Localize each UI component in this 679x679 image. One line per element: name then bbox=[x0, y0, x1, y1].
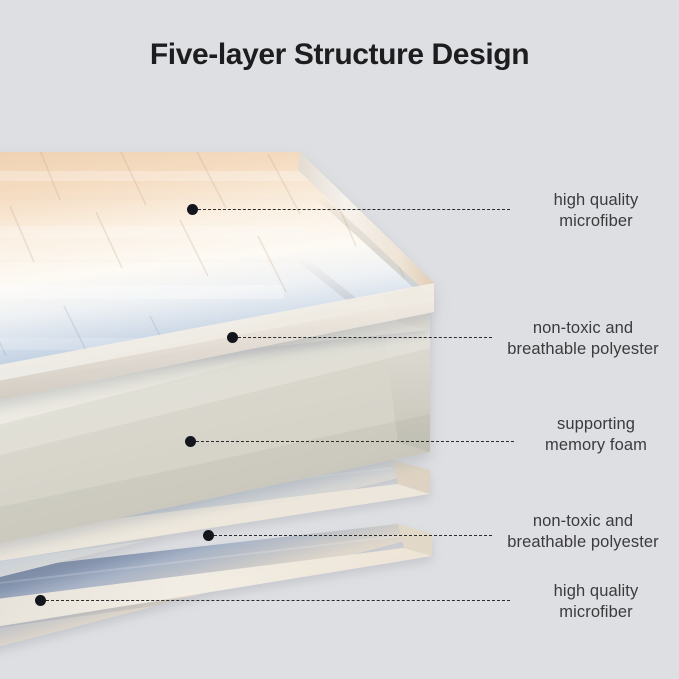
callout-label-layer-5: high quality microfiber bbox=[512, 581, 679, 623]
slab-bottom-microfiber bbox=[0, 524, 432, 662]
callout-dot-layer-3 bbox=[185, 436, 196, 447]
callout-label-layer-2: non-toxic and breathable polyester bbox=[492, 318, 674, 360]
callout-leader-layer-5 bbox=[46, 600, 510, 601]
callout-leader-layer-4 bbox=[214, 535, 492, 536]
slab-polyester-lower bbox=[0, 460, 430, 592]
callout-label-layer-1: high quality microfiber bbox=[512, 190, 679, 232]
callout-dot-layer-2 bbox=[227, 332, 238, 343]
callout-label-layer-4: non-toxic and breathable polyester bbox=[492, 511, 674, 553]
callout-label-layer-3: supporting memory foam bbox=[512, 414, 679, 456]
callout-dot-layer-4 bbox=[203, 530, 214, 541]
callout-leader-layer-3 bbox=[196, 441, 514, 442]
callout-dot-layer-1 bbox=[187, 204, 198, 215]
product-infographic: Five-layer Structure Design bbox=[0, 0, 679, 679]
callout-leader-layer-2 bbox=[238, 337, 492, 338]
callout-dot-layer-5 bbox=[35, 595, 46, 606]
slab-polyester-upper bbox=[0, 286, 428, 382]
slab-memory-foam bbox=[0, 302, 430, 556]
page-title: Five-layer Structure Design bbox=[0, 38, 679, 72]
slab-top-microfiber bbox=[0, 150, 452, 440]
callout-leader-layer-1 bbox=[198, 209, 510, 210]
